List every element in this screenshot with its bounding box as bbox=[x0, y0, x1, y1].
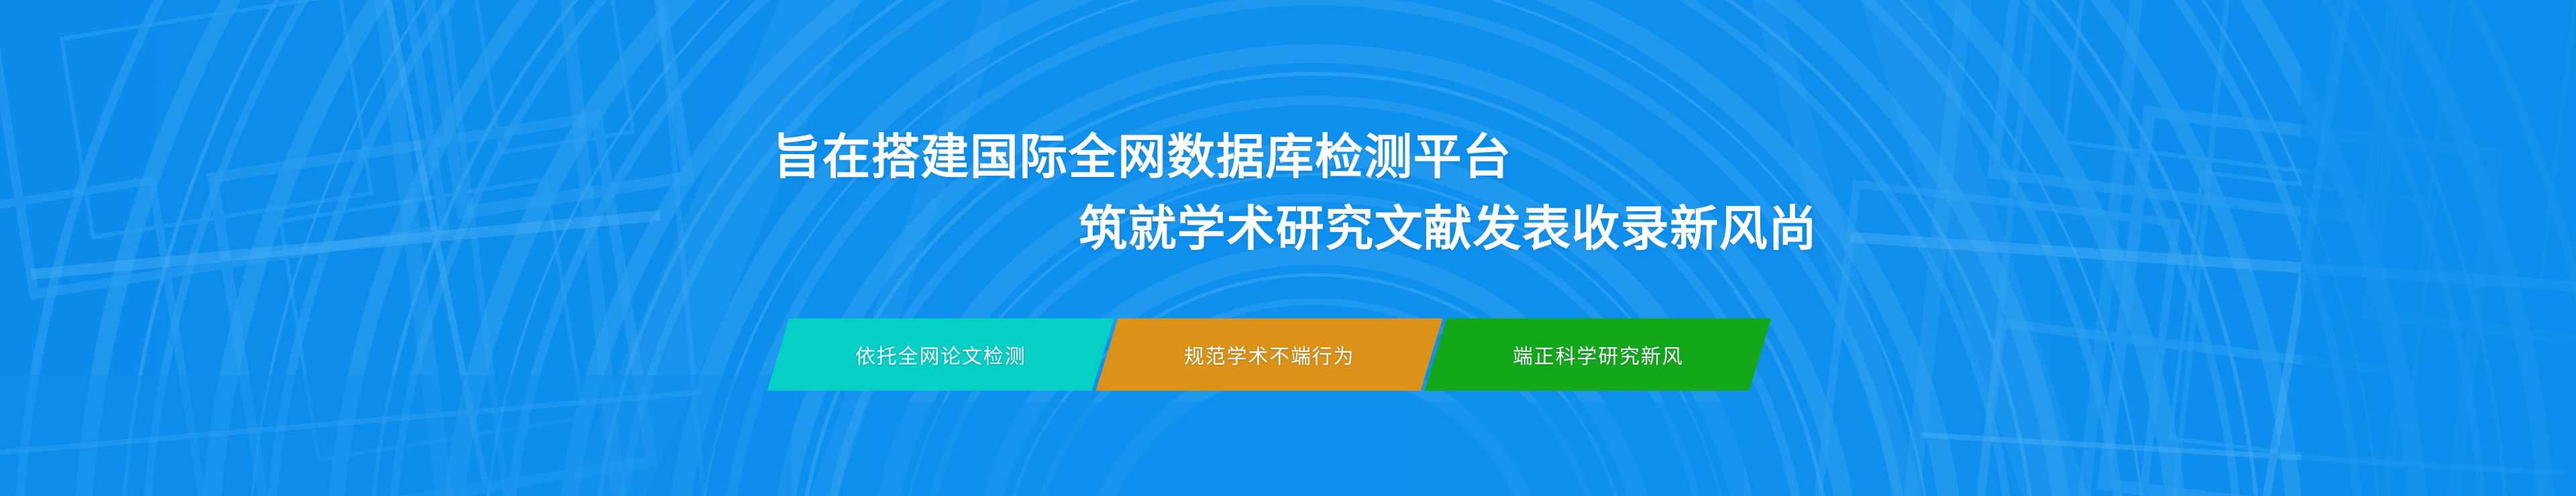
banner-content: 旨在搭建国际全网数据库检测平台 筑就学术研究文献发表收录新风尚 依托全网论文检测… bbox=[0, 0, 2576, 496]
feature-tag-paper-detection[interactable]: 依托全网论文检测 bbox=[767, 318, 1114, 391]
feature-tag-label: 依托全网论文检测 bbox=[855, 340, 1026, 369]
headline-line-2: 筑就学术研究文献发表收录新风尚 bbox=[1079, 203, 1818, 256]
feature-tag-label: 端正科学研究新风 bbox=[1513, 340, 1683, 369]
feature-tag-list: 依托全网论文检测 规范学术不端行为 端正科学研究新风 bbox=[778, 318, 1760, 391]
feature-tag-academic-misconduct[interactable]: 规范学术不端行为 bbox=[1095, 318, 1442, 391]
promo-banner: 旨在搭建国际全网数据库检测平台 筑就学术研究文献发表收录新风尚 依托全网论文检测… bbox=[0, 0, 2576, 496]
feature-tag-label: 规范学术不端行为 bbox=[1184, 340, 1354, 369]
headline-line-1: 旨在搭建国际全网数据库检测平台 bbox=[773, 131, 1512, 184]
feature-tag-research-ethics[interactable]: 端正科学研究新风 bbox=[1424, 318, 1771, 391]
